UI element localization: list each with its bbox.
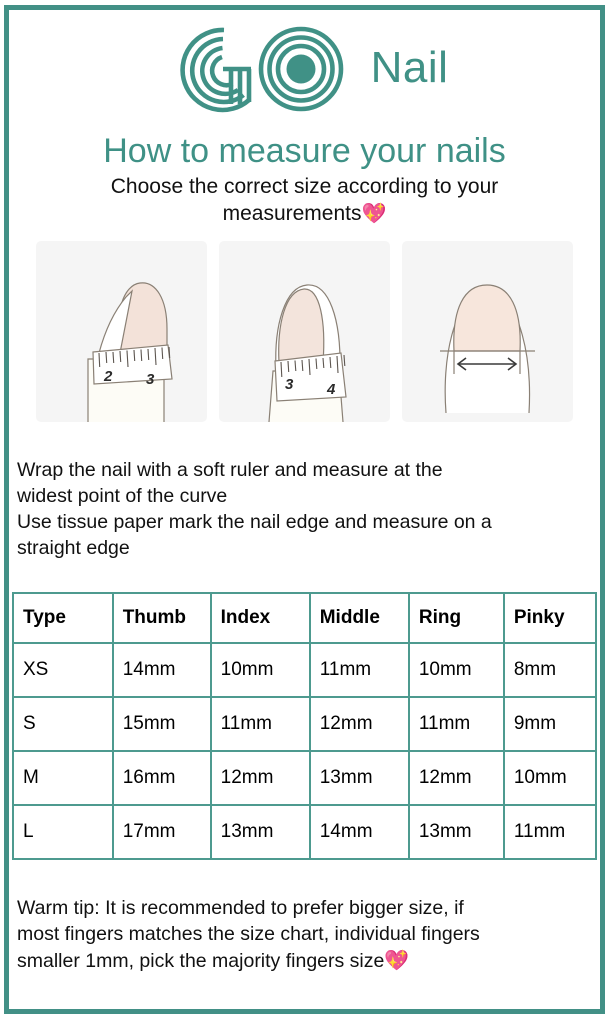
cell-ring: 10mm xyxy=(409,643,504,697)
instruction-line-2: widest point of the curve xyxy=(17,484,594,510)
cell-pinky: 10mm xyxy=(504,751,596,805)
cell-ring: 11mm xyxy=(409,697,504,751)
cell-middle: 13mm xyxy=(310,751,409,805)
cell-type: L xyxy=(13,805,113,859)
cell-type: XS xyxy=(13,643,113,697)
instruction-line-1: Wrap the nail with a soft ruler and meas… xyxy=(17,458,594,484)
panel-nail-width xyxy=(402,241,573,422)
table-row: L 17mm 13mm 14mm 13mm 11mm xyxy=(13,805,596,859)
instructions-block: Wrap the nail with a soft ruler and meas… xyxy=(9,458,600,562)
tip-line-3-wrap: smaller 1mm, pick the majority fingers s… xyxy=(9,948,600,975)
nail-width-arrow-icon xyxy=(402,241,573,422)
page-title: How to measure your nails xyxy=(9,132,600,170)
cell-pinky: 9mm xyxy=(504,697,596,751)
sparkling-heart-icon: 💖 xyxy=(384,950,409,972)
size-guide-card: Nail How to measure your nails Choose th… xyxy=(4,5,605,1014)
warm-tip-block: Warm tip: It is recommended to prefer bi… xyxy=(9,896,600,975)
column-header-pinky: Pinky xyxy=(504,593,596,643)
table-header-row: Type Thumb Index Middle Ring Pinky xyxy=(13,593,596,643)
cell-thumb: 16mm xyxy=(113,751,211,805)
cell-index: 12mm xyxy=(211,751,310,805)
cell-pinky: 8mm xyxy=(504,643,596,697)
cell-index: 13mm xyxy=(211,805,310,859)
table-row: S 15mm 11mm 12mm 11mm 9mm xyxy=(13,697,596,751)
instruction-line-3: Use tissue paper mark the nail edge and … xyxy=(17,510,594,536)
svg-text:2: 2 xyxy=(103,368,113,385)
brand-word: Nail xyxy=(371,46,449,94)
svg-text:3: 3 xyxy=(146,371,155,388)
table-row: M 16mm 12mm 13mm 12mm 10mm xyxy=(13,751,596,805)
size-chart-wrapper: Type Thumb Index Middle Ring Pinky XS 14… xyxy=(12,592,597,860)
go-nail-logo-icon xyxy=(161,22,357,118)
cell-thumb: 15mm xyxy=(113,697,211,751)
size-chart-table: Type Thumb Index Middle Ring Pinky XS 14… xyxy=(12,592,597,860)
instruction-line-4: straight edge xyxy=(17,536,594,562)
column-header-index: Index xyxy=(211,593,310,643)
subtitle-line-1: Choose the correct size according to you… xyxy=(111,175,499,198)
tip-line-3: smaller 1mm, pick the majority fingers s… xyxy=(17,950,384,972)
cell-ring: 13mm xyxy=(409,805,504,859)
page-subtitle: Choose the correct size according to you… xyxy=(85,174,525,227)
panel-finger-ruler-side: 2 3 xyxy=(36,241,207,422)
cell-type: S xyxy=(13,697,113,751)
tip-line-1: Warm tip: It is recommended to prefer bi… xyxy=(9,896,600,922)
cell-index: 11mm xyxy=(211,697,310,751)
cell-thumb: 17mm xyxy=(113,805,211,859)
svg-text:3: 3 xyxy=(285,376,294,393)
tip-line-2: most fingers matches the size chart, ind… xyxy=(9,922,600,948)
cell-type: M xyxy=(13,751,113,805)
cell-middle: 12mm xyxy=(310,697,409,751)
svg-text:4: 4 xyxy=(326,381,336,398)
finger-ruler-wrap-icon: 2 3 xyxy=(36,241,207,422)
subtitle-line-2: measurements xyxy=(223,202,362,225)
column-header-thumb: Thumb xyxy=(113,593,211,643)
cell-pinky: 11mm xyxy=(504,805,596,859)
column-header-type: Type xyxy=(13,593,113,643)
cell-ring: 12mm xyxy=(409,751,504,805)
table-row: XS 14mm 10mm 11mm 10mm 8mm xyxy=(13,643,596,697)
illustration-panels: 2 3 xyxy=(9,241,600,422)
panel-finger-ruler-front: 3 4 xyxy=(219,241,390,422)
finger-ruler-front-icon: 3 4 xyxy=(219,241,390,422)
column-header-middle: Middle xyxy=(310,593,409,643)
sparkling-heart-icon: 💖 xyxy=(361,203,386,225)
cell-middle: 11mm xyxy=(310,643,409,697)
cell-middle: 14mm xyxy=(310,805,409,859)
cell-thumb: 14mm xyxy=(113,643,211,697)
brand-logo: Nail xyxy=(9,18,600,122)
cell-index: 10mm xyxy=(211,643,310,697)
column-header-ring: Ring xyxy=(409,593,504,643)
